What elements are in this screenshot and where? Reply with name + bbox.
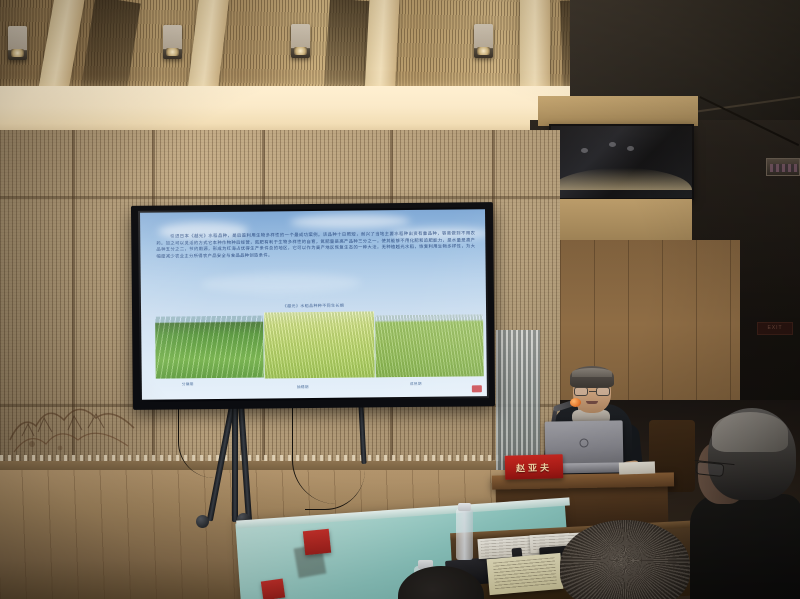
ceiling-spotlight-icon (474, 24, 493, 58)
red-name-tent-card (261, 579, 285, 599)
crop-row-texture (375, 314, 484, 377)
tv-bezel: 引进日本《越光》水稻品种，是后首利用生物多样性的一个最成功案例。该品种十日照短，… (138, 207, 489, 402)
nameplate-text: 赵亚夫 (516, 460, 552, 474)
attendee-right-grey-hair (690, 408, 800, 599)
tv-reflection-dot (627, 146, 634, 151)
red-name-tent-card (303, 529, 331, 556)
glazed-partition (496, 330, 540, 475)
slide-body-text: 引进日本《越光》水稻品种，是后首利用生物多样性的一个最成功案例。该品种十日照短，… (156, 231, 475, 261)
presenter-nameplate: 赵亚夫 (505, 454, 564, 480)
yellow-notebook[interactable] (487, 553, 564, 595)
tv-reflection-dot (609, 142, 616, 147)
slide-cloud (201, 272, 361, 294)
photo-caption-mid: 抽穗期 (297, 385, 309, 390)
tv-glare (551, 168, 692, 190)
water-bottle[interactable] (456, 508, 473, 560)
crop-row-texture (264, 311, 375, 378)
photo-caption-late: 成熟期 (410, 382, 422, 387)
presentation-slide: 引进日本《越光》水稻品种，是后首利用生物多样性的一个最成功案例。该品种十日照短，… (140, 209, 487, 400)
presenter-mouth (586, 401, 598, 404)
presentation-tv[interactable]: 引进日本《越光》水稻品种，是后首利用生物多样性的一个最成功案例。该品种十日照短，… (131, 202, 495, 410)
laptop-brand-logo-icon (579, 438, 588, 447)
exit-sign-label: EXIT (758, 323, 792, 334)
glasses-bridge (589, 391, 596, 392)
rice-field-photo-mid (264, 311, 375, 378)
bottle-cap[interactable] (458, 503, 471, 511)
presenter-papers (619, 461, 655, 474)
tv-reflection-dot (581, 148, 588, 153)
ceiling-spotlight-icon (163, 25, 182, 59)
tv-stand-caster (196, 515, 209, 528)
exit-sign: EXIT (757, 322, 793, 335)
microphone-windscreen (570, 398, 581, 407)
attendee-grey-hair (712, 412, 788, 452)
upper-wood-valance (538, 96, 698, 126)
ceiling-spotlight-icon (291, 24, 310, 58)
presenter-glasses-icon (574, 387, 611, 396)
wall-mounted-tv[interactable] (549, 124, 694, 200)
crop-row-texture (155, 316, 264, 379)
ceiling-spotlight-icon (8, 26, 27, 60)
rice-field-photo-late (375, 314, 484, 377)
rice-field-photo-early (155, 316, 264, 379)
attendee-body (690, 494, 800, 599)
ceiling-beam (520, 0, 550, 100)
wall-control-panel[interactable] (766, 158, 800, 176)
glasses-lens-right (596, 387, 610, 396)
glasses-lens-left (574, 387, 588, 396)
conference-room-photo: EXIT 引进日本《越光》水稻品种，是后首利用生物多样性的一个最成功案例。该品种… (0, 0, 800, 599)
presenter-grey-hair (572, 368, 612, 377)
tv-stand-column (232, 404, 238, 522)
slide-photo-strip (155, 309, 486, 380)
slide-logo-mark (472, 385, 482, 392)
photo-caption-early: 分蘖期 (182, 382, 194, 387)
slide-cloud (290, 214, 410, 229)
